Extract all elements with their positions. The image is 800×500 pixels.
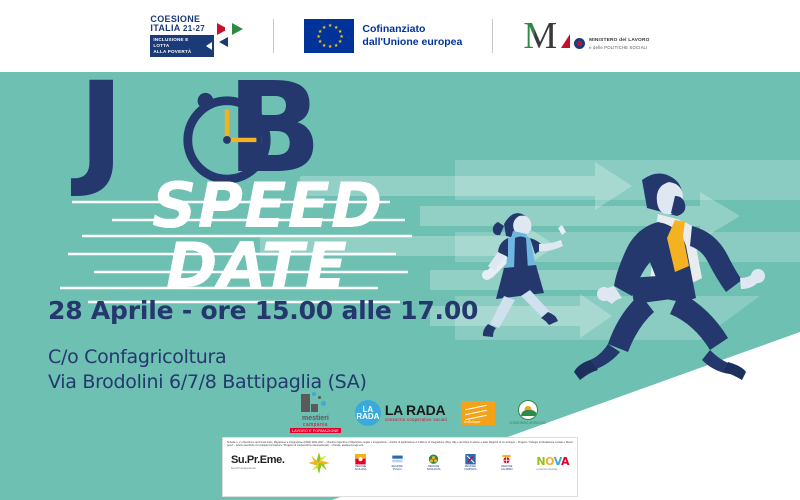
ministero-line1: MINISTERO del LAVORO xyxy=(589,38,649,44)
coesione-band-arrow-icon xyxy=(206,42,212,50)
supreme-title: Su.Pr.Eme. xyxy=(231,455,284,466)
la-rada-subtitle: consorzio cooperative sociali xyxy=(385,418,447,423)
partner-logo-mestieri: mestieri campania LAVORO E FORMAZIONE xyxy=(290,392,341,433)
banner-divider-2 xyxy=(492,19,493,53)
coesione-band-line1: INCLUSIONE E LOTTA xyxy=(153,37,204,48)
la-rada-title: LA RADA xyxy=(385,403,447,418)
ministero-seal-icon xyxy=(574,38,585,49)
title-job-j: J xyxy=(78,56,123,201)
seal-icon xyxy=(518,400,538,420)
mestieri-mark-icon xyxy=(301,392,329,414)
sicilia-caption: REGIONE SICILIANA xyxy=(354,466,368,472)
eu-line2: dall'Unione europea xyxy=(362,36,462,49)
poster-canvas: JOB SPEED DATE xyxy=(0,0,800,500)
seal-caption: CONSORZIO AGRICOLO xyxy=(509,421,546,425)
mestieri-tagline: LAVORO E FORMAZIONE xyxy=(290,428,341,433)
footer-logo-row: Su.Pr.Eme. Sud Protagonista REGIONE SICI… xyxy=(227,451,573,475)
basilicata-caption: REGIONE BASILICATA xyxy=(427,466,441,472)
nova-title: NOVA xyxy=(536,455,569,468)
logo-coesione-italia: COESIONE ITALIA 21-27 INCLUSIONE E LOTTA… xyxy=(150,15,243,56)
footer-fine-print: Scheda n. 2 e Revisione del Fondo Asilo,… xyxy=(227,441,573,448)
event-address: C/o Confagricoltura Via Brodolini 6/7/8 … xyxy=(48,345,367,395)
la-rada-mark-text: LA RADA xyxy=(355,406,381,420)
footer-logo-supreme: Su.Pr.Eme. Sud Protagonista xyxy=(231,455,284,470)
coesione-italia-word: ITALIA xyxy=(150,23,180,33)
coesione-arrow-icon xyxy=(217,21,243,51)
campania-caption: REGIONE CAMPANIA xyxy=(463,466,477,472)
logo-european-union: ★ ★ ★ ★ ★ ★ ★ ★ ★ ★ ★ ★ Cofinanziato dal… xyxy=(304,19,462,53)
partner-logo-la-rada: LA RADA LA RADA consorzio cooperative so… xyxy=(355,400,447,426)
partner-orange-caption: milbaupe xyxy=(464,419,480,424)
coesione-band-line2: ALLA POVERTÀ xyxy=(153,49,204,55)
coesione-band: INCLUSIONE E LOTTA ALLA POVERTÀ xyxy=(150,35,214,56)
event-venue: C/o Confagricoltura xyxy=(48,345,367,370)
footer-logo-puglia: REGIONE PUGLIA xyxy=(390,454,404,471)
coesione-line2: ITALIA 21-27 xyxy=(150,24,214,33)
ministero-line2: e delle POLITICHE SOCIALI xyxy=(589,45,649,50)
calabria-caption: REGIONE CALABRIA xyxy=(500,466,514,472)
eu-line1: Cofinanziato xyxy=(362,23,462,36)
banner-divider-1 xyxy=(273,19,274,53)
eu-flag-icon: ★ ★ ★ ★ ★ ★ ★ ★ ★ ★ ★ ★ xyxy=(304,19,354,53)
ministero-slash-icon xyxy=(561,34,570,48)
logo-ministero-lavoro: M MINISTERO del LAVORO e delle POLITICHE… xyxy=(523,21,649,51)
title-date: DATE xyxy=(166,236,383,296)
coesione-years: 21-27 xyxy=(183,24,205,33)
partner-logo-orange: milbaupe xyxy=(461,401,495,425)
woman-figure xyxy=(482,213,566,337)
puglia-caption: REGIONE PUGLIA xyxy=(390,466,404,472)
running-people-illustration xyxy=(470,160,800,385)
la-rada-mark-icon: LA RADA xyxy=(355,400,381,426)
event-date-time: 28 Aprile - ore 15.00 alle 17.00 xyxy=(48,296,478,325)
footer-logo-calabria: REGIONE CALABRIA xyxy=(500,454,514,471)
footer-disclaimer-strip: Scheda n. 2 e Revisione del Fondo Asilo,… xyxy=(222,437,578,497)
ministero-monogram: M xyxy=(523,21,557,51)
nova-subtitle: consorzio nazionale xyxy=(536,468,569,471)
compass-rose-icon xyxy=(307,451,331,475)
footer-logo-nova: NOVA consorzio nazionale xyxy=(536,455,569,471)
institutional-banner: COESIONE ITALIA 21-27 INCLUSIONE E LOTTA… xyxy=(0,0,800,72)
partner-logo-row: mestieri campania LAVORO E FORMAZIONE LA… xyxy=(290,392,546,433)
man-figure xyxy=(574,173,765,380)
partner-logo-seal: CONSORZIO AGRICOLO xyxy=(509,400,546,425)
supreme-subtitle: Sud Protagonista xyxy=(231,466,284,470)
title-speed-date: SPEED DATE xyxy=(152,176,383,296)
footer-logo-sicilia: REGIONE SICILIANA xyxy=(354,454,368,471)
mestieri-label: mestieri xyxy=(302,415,329,422)
footer-logo-basilicata: REGIONE BASILICATA xyxy=(427,454,441,471)
footer-logo-campania: REGIONE CAMPANIA xyxy=(463,454,477,471)
